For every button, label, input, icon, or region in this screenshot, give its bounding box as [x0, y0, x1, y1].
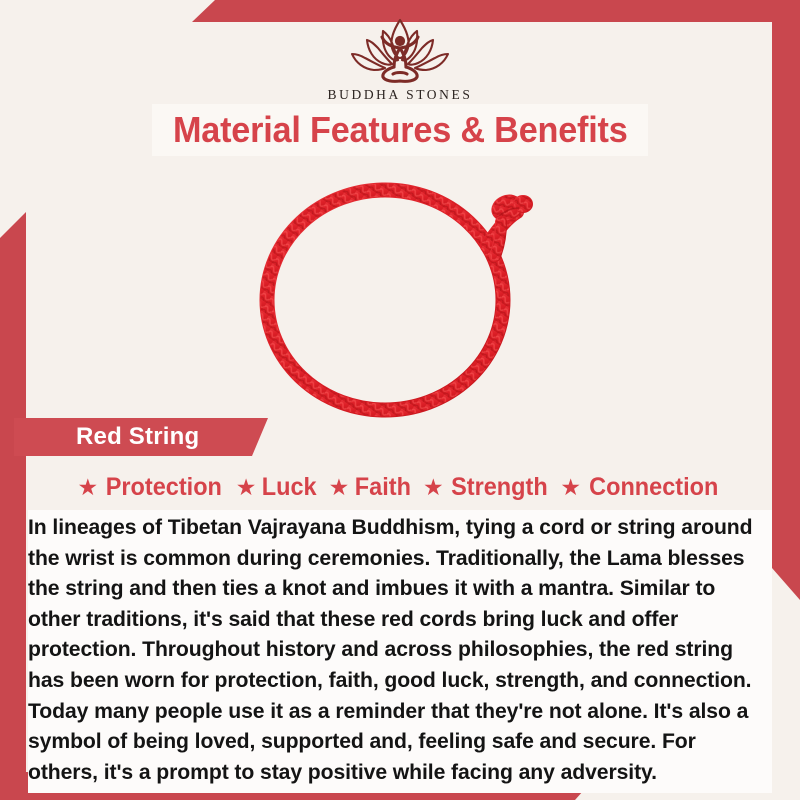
benefit-label: Protection [106, 473, 222, 502]
page-title: Material Features & Benefits [173, 109, 628, 151]
product-name-ribbon: Red String [14, 418, 268, 456]
brand-name: BUDDHA STONES [0, 87, 800, 103]
benefit-item-strength: ★ Strength [423, 473, 550, 502]
brand-header: BUDDHA STONES [0, 14, 800, 103]
star-icon: ★ [423, 476, 444, 499]
benefit-label: Luck [262, 473, 317, 502]
description-text: In lineages of Tibetan Vajrayana Buddhis… [28, 512, 759, 787]
benefit-label: Strength [451, 473, 548, 502]
star-icon: ★ [560, 476, 581, 499]
benefit-item-connection: ★ Connection [560, 473, 722, 502]
benefit-item-faith: ★ Faith [329, 473, 413, 502]
benefit-item-protection: ★ Protection [77, 473, 225, 502]
description-block: In lineages of Tibetan Vajrayana Buddhis… [28, 510, 772, 793]
product-name-label: Red String [14, 423, 199, 451]
red-string-bracelet-illustration [235, 160, 565, 430]
benefits-list: ★ Protection ★ Luck ★ Faith ★ Strength ★… [26, 466, 774, 508]
title-banner: Material Features & Benefits [152, 104, 648, 156]
lotus-meditation-icon [330, 14, 470, 86]
benefit-label: Connection [589, 473, 718, 502]
benefit-label: Faith [355, 473, 411, 502]
star-icon: ★ [236, 476, 257, 499]
benefit-item-luck: ★ Luck [236, 473, 319, 502]
infographic-poster: BUDDHA STONES Material Features & Benefi… [0, 0, 800, 800]
product-image [0, 160, 800, 430]
star-icon: ★ [77, 476, 98, 499]
star-icon: ★ [329, 476, 350, 499]
